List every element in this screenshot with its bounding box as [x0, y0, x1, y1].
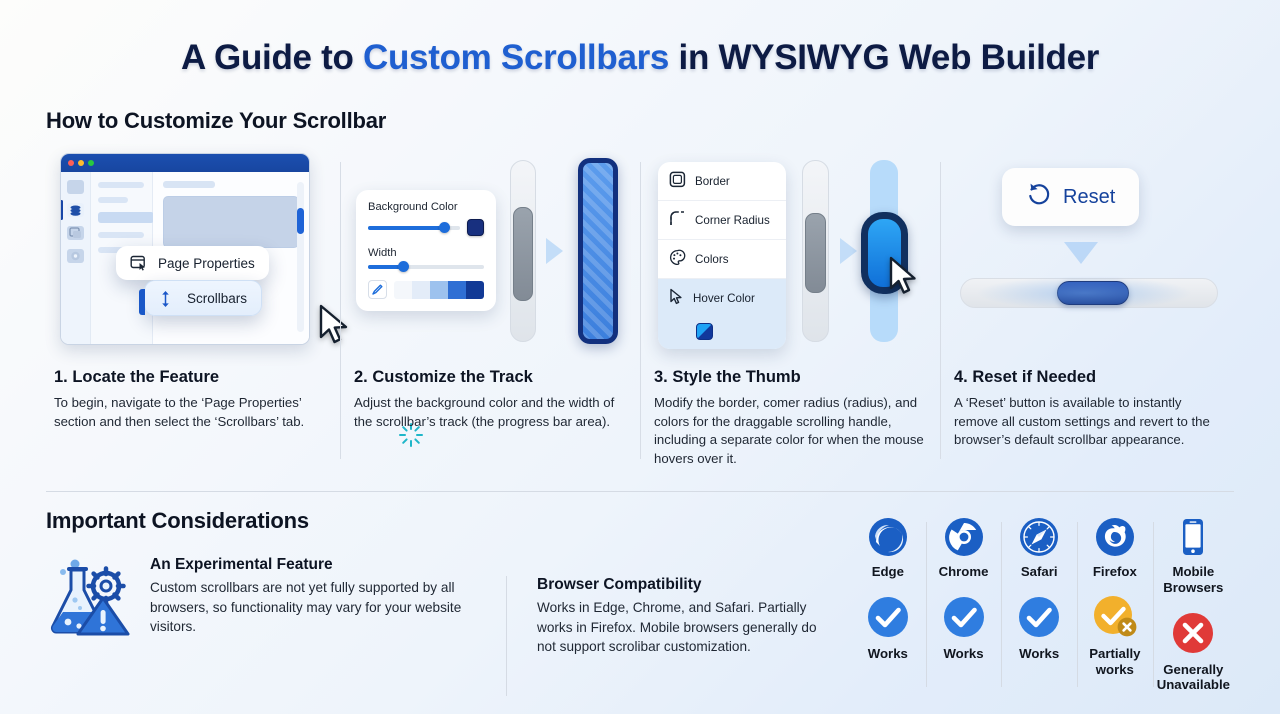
how-to-heading: How to Customize Your Scrollbar: [46, 108, 1280, 134]
check-icon: [941, 594, 987, 640]
browser-column-safari: Safari Works: [1001, 516, 1077, 693]
title-lead: A Guide to: [181, 38, 363, 77]
step-2: Background Color Width: [340, 150, 640, 469]
horizontal-scrollbar-thumb[interactable]: [1057, 281, 1129, 305]
browser-name: Firefox: [1093, 564, 1137, 580]
transform-arrow-icon: [840, 238, 857, 264]
color-palette-strip[interactable]: [394, 281, 484, 299]
step-2-visual: Background Color Width: [354, 150, 626, 350]
reset-button-label: Reset: [1063, 186, 1115, 209]
experimental-text: An Experimental Feature Custom scrollbar…: [150, 556, 506, 637]
browser-column-firefox: Firefox Partially works: [1077, 516, 1153, 693]
tree-row-selected: [98, 212, 154, 223]
browser-status: Works: [943, 646, 983, 662]
width-slider[interactable]: [368, 265, 484, 269]
browser-status: Partially works: [1081, 646, 1149, 678]
browser-name: Mobile Browsers: [1157, 564, 1230, 596]
menu-item-border[interactable]: Border: [658, 162, 786, 201]
thumb-options-menu: Border Corner Radius Colors: [658, 162, 786, 349]
browser-column-edge: Edge Works: [850, 516, 926, 693]
menu-item-colors[interactable]: Colors: [658, 240, 786, 279]
step-4: Reset 4. Reset if Needed A ‘Reset’ butto…: [940, 150, 1240, 469]
menu-item-label: Colors: [695, 253, 729, 266]
track-settings-card: Background Color Width: [356, 190, 496, 311]
compatibility-note: Browser Compatibility Works in Edge, Chr…: [506, 576, 836, 696]
browser-column-chrome: Chrome Works: [926, 516, 1002, 693]
canvas-placeholder-block: [163, 196, 299, 248]
step-1-title: 1. Locate the Feature: [54, 368, 326, 387]
edge-icon: [867, 516, 909, 558]
page-title: A Guide to Custom Scrollbars in WYSIWYG …: [0, 0, 1280, 78]
rail-assets-icon[interactable]: [67, 226, 84, 240]
mobile-phone-icon: [1172, 516, 1214, 558]
horizontal-scrollbar-track[interactable]: [960, 278, 1218, 308]
flask-gear-warning-icon: [46, 556, 132, 642]
width-label: Width: [368, 247, 484, 259]
background-color-swatch[interactable]: [467, 219, 484, 236]
scrollbar-before-thumb: [513, 207, 533, 301]
step-3: Border Corner Radius Colors: [640, 150, 940, 469]
considerations-left: Important Considerations: [46, 508, 506, 642]
step-1-visual: Page Properties Scrollbars: [54, 150, 326, 350]
safari-icon: [1018, 516, 1060, 558]
canvas-placeholder-row: [163, 181, 215, 188]
step-3-title: 3. Style the Thumb: [654, 368, 926, 387]
menu-item-page-properties[interactable]: Page Properties: [116, 246, 269, 280]
browser-column-mobile: Mobile Browsers Generally Unavailable: [1153, 516, 1234, 693]
palette-row: [368, 280, 484, 299]
compatibility-body: Works in Edge, Chrome, and Safari. Parti…: [537, 598, 836, 657]
menu-item-scrollbars[interactable]: Scrollbars: [144, 280, 262, 316]
section-divider: [46, 491, 1234, 492]
check-icon: [1016, 594, 1062, 640]
rail-layers-icon[interactable]: [67, 203, 84, 217]
browser-status: Works: [868, 646, 908, 662]
window-icon-rail: [61, 172, 91, 345]
step-3-visual: Border Corner Radius Colors: [654, 150, 926, 350]
experimental-body: Custom scrollbars are not yet fully supp…: [150, 578, 506, 637]
window-titlebar: [61, 154, 309, 172]
slider-knob[interactable]: [439, 222, 450, 233]
check-with-x-badge-icon: [1092, 594, 1138, 640]
menu-item-label: Hover Color: [693, 292, 755, 305]
browser-status: Works: [1019, 646, 1059, 662]
browser-name: Edge: [872, 564, 904, 580]
menu-item-corner-radius[interactable]: Corner Radius: [658, 201, 786, 240]
corner-radius-icon: [669, 210, 686, 230]
step-4-visual: Reset: [954, 150, 1226, 350]
window-scrollbar-track[interactable]: [297, 182, 304, 332]
hover-color-swatch[interactable]: [696, 323, 713, 340]
experimental-note: An Experimental Feature Custom scrollbar…: [46, 556, 506, 642]
infographic-page: A Guide to Custom Scrollbars in WYSIWYG …: [0, 0, 1280, 714]
close-traffic-light[interactable]: [68, 160, 74, 166]
firefox-icon: [1094, 516, 1136, 558]
step-1-body: To begin, navigate to the ‘Page Properti…: [54, 394, 326, 431]
background-color-row: [368, 219, 484, 236]
step-3-body: Modify the border, comer radius (radius)…: [654, 394, 926, 469]
slider-knob[interactable]: [398, 261, 409, 272]
menu-item-label: Corner Radius: [695, 214, 770, 227]
cross-icon: [1170, 610, 1216, 656]
apply-arrow-icon: [1064, 242, 1098, 264]
tree-row: [98, 197, 128, 203]
palette-icon: [669, 249, 686, 269]
rail-settings-gear-icon[interactable]: [67, 249, 84, 263]
step-2-body: Adjust the background color and the widt…: [354, 394, 626, 431]
square-outline-icon: [669, 171, 686, 191]
cursor-icon: [669, 288, 684, 308]
step-4-title: 4. Reset if Needed: [954, 368, 1226, 387]
slider-fill: [368, 226, 444, 230]
window-pointer-icon: [130, 255, 148, 271]
tree-row: [98, 182, 144, 188]
scrollbar-before-track: [510, 160, 536, 342]
menu-item-label: Border: [695, 175, 730, 188]
title-accent: Custom Scrollbars: [363, 38, 669, 77]
rail-page-icon[interactable]: [67, 180, 84, 194]
minimize-traffic-light[interactable]: [78, 160, 84, 166]
browser-status: Generally Unavailable: [1157, 662, 1230, 694]
mouse-cursor-icon: [888, 256, 920, 296]
background-color-slider[interactable]: [368, 226, 460, 230]
considerations-heading: Important Considerations: [46, 508, 506, 534]
tree-row: [98, 232, 144, 238]
scrollbar-after-track: [578, 158, 618, 344]
considerations-section: Important Considerations: [46, 508, 1234, 696]
chrome-icon: [943, 516, 985, 558]
reset-button[interactable]: Reset: [1002, 168, 1139, 226]
thumb-before-track: [802, 160, 829, 342]
rotate-ccw-icon: [1026, 181, 1052, 213]
compatibility-title: Browser Compatibility: [537, 576, 836, 594]
width-row: [368, 265, 484, 269]
background-color-label: Background Color: [368, 201, 484, 213]
step-1: Page Properties Scrollbars: [40, 150, 340, 469]
vertical-resize-icon: [159, 290, 177, 306]
experimental-title: An Experimental Feature: [150, 556, 506, 574]
menu-item-label: Page Properties: [158, 256, 255, 271]
browser-support-grid: Edge Works Chrome: [836, 516, 1234, 693]
title-tail: in WYSIWYG Web Builder: [669, 38, 1099, 77]
browser-name: Safari: [1021, 564, 1058, 580]
step-2-title: 2. Customize the Track: [354, 368, 626, 387]
check-icon: [865, 594, 911, 640]
transform-arrow-icon: [546, 238, 563, 264]
thumb-before-handle: [805, 213, 826, 293]
step-4-body: A ‘Reset’ button is available to instant…: [954, 394, 1226, 450]
pencil-icon[interactable]: [368, 280, 387, 299]
menu-item-label: Scrollbars: [187, 291, 247, 306]
window-scrollbar-thumb[interactable]: [297, 208, 304, 234]
maximize-traffic-light[interactable]: [88, 160, 94, 166]
steps-row: Page Properties Scrollbars: [40, 150, 1240, 469]
menu-item-hover-color[interactable]: Hover Color: [658, 279, 786, 349]
browser-name: Chrome: [939, 564, 989, 580]
